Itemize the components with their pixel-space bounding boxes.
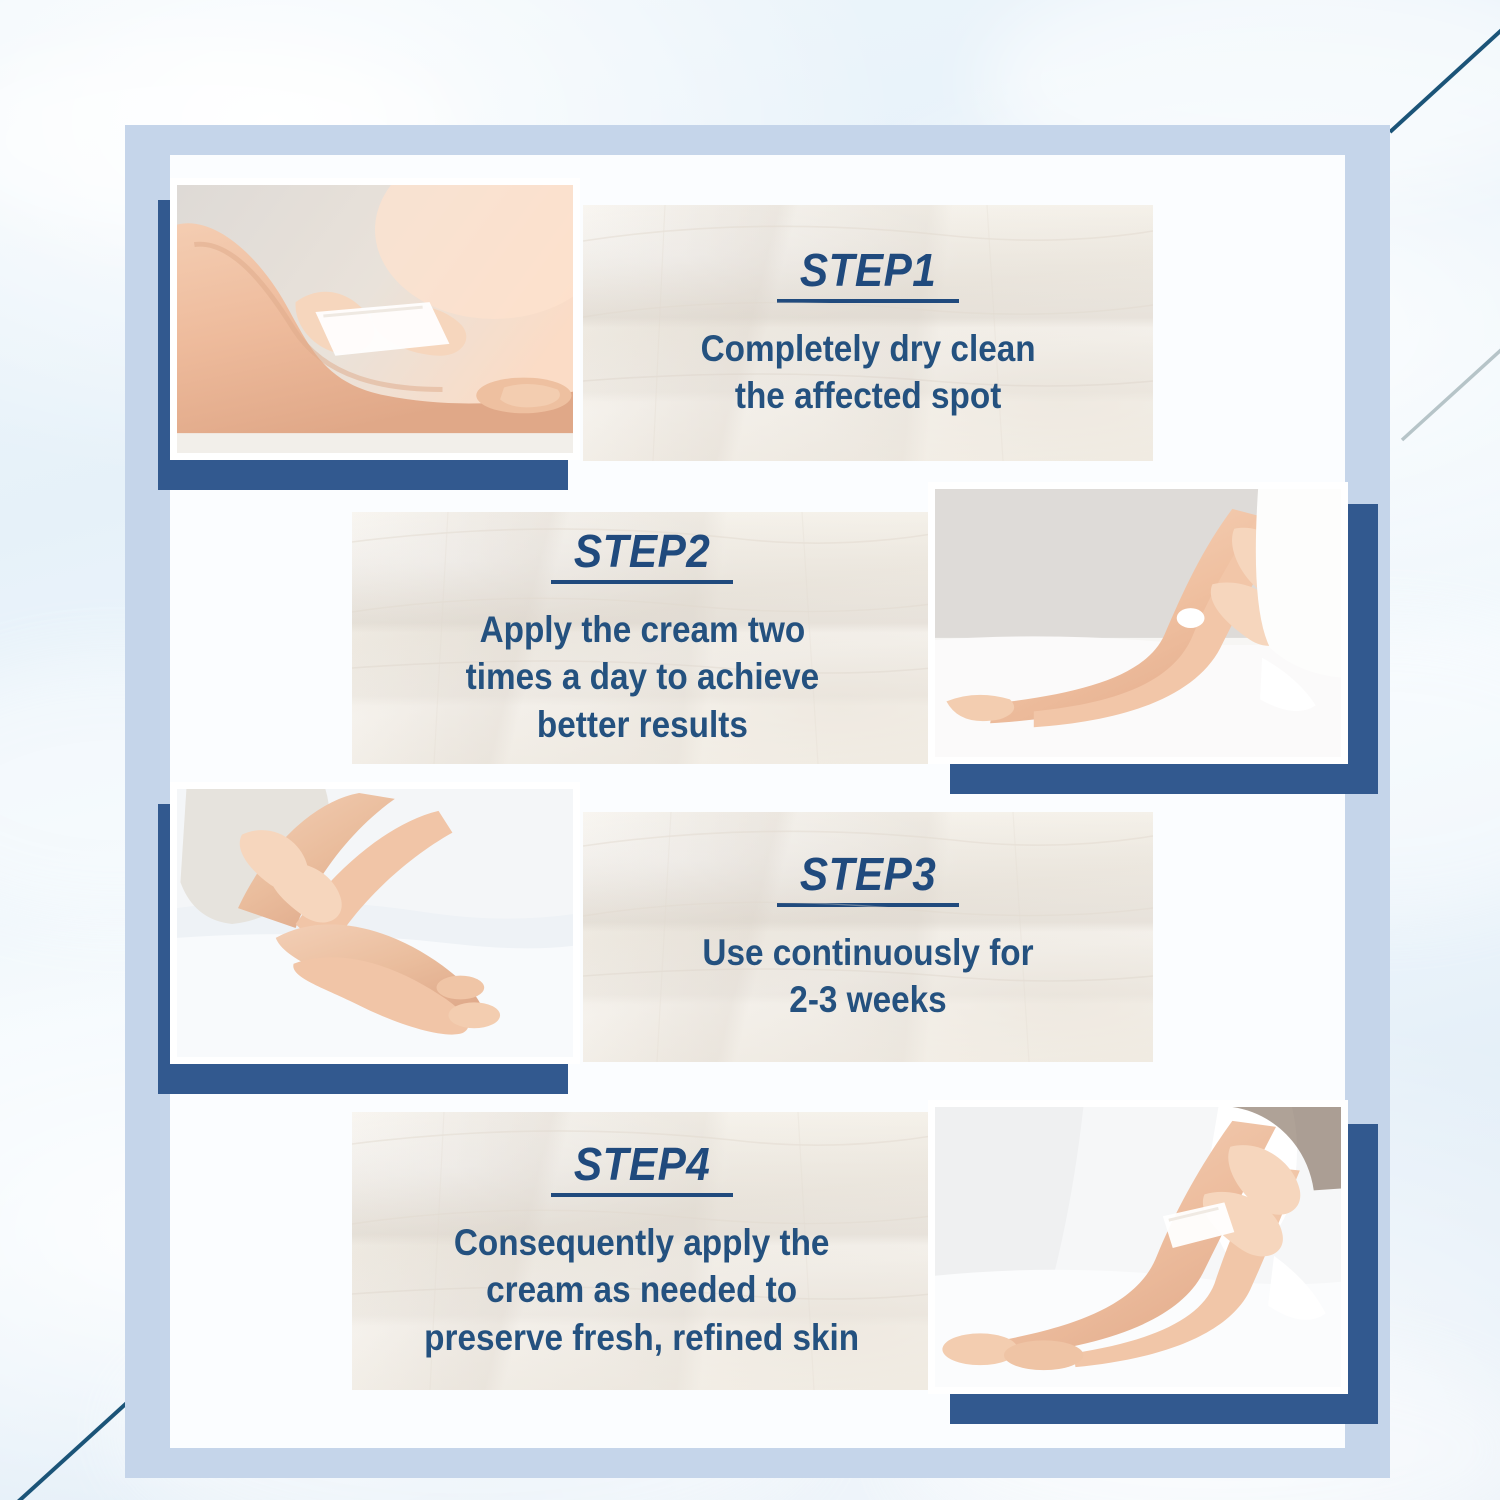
infographic-canvas: STEP1 Completely dry clean the affected … — [0, 0, 1500, 1500]
step-4-photo-mat — [928, 1100, 1348, 1394]
step-4-title: STEP4 — [574, 1141, 710, 1187]
step-row-4: STEP4 Consequently apply the cream as ne… — [0, 0, 1500, 1500]
step-4-photo — [935, 1107, 1341, 1387]
step-4-title-rule — [551, 1193, 733, 1197]
step-4-description: Consequently apply the cream as needed t… — [425, 1219, 860, 1361]
step-4-text-panel: STEP4 Consequently apply the cream as ne… — [352, 1112, 932, 1390]
step-4-photo-block — [928, 1100, 1368, 1420]
